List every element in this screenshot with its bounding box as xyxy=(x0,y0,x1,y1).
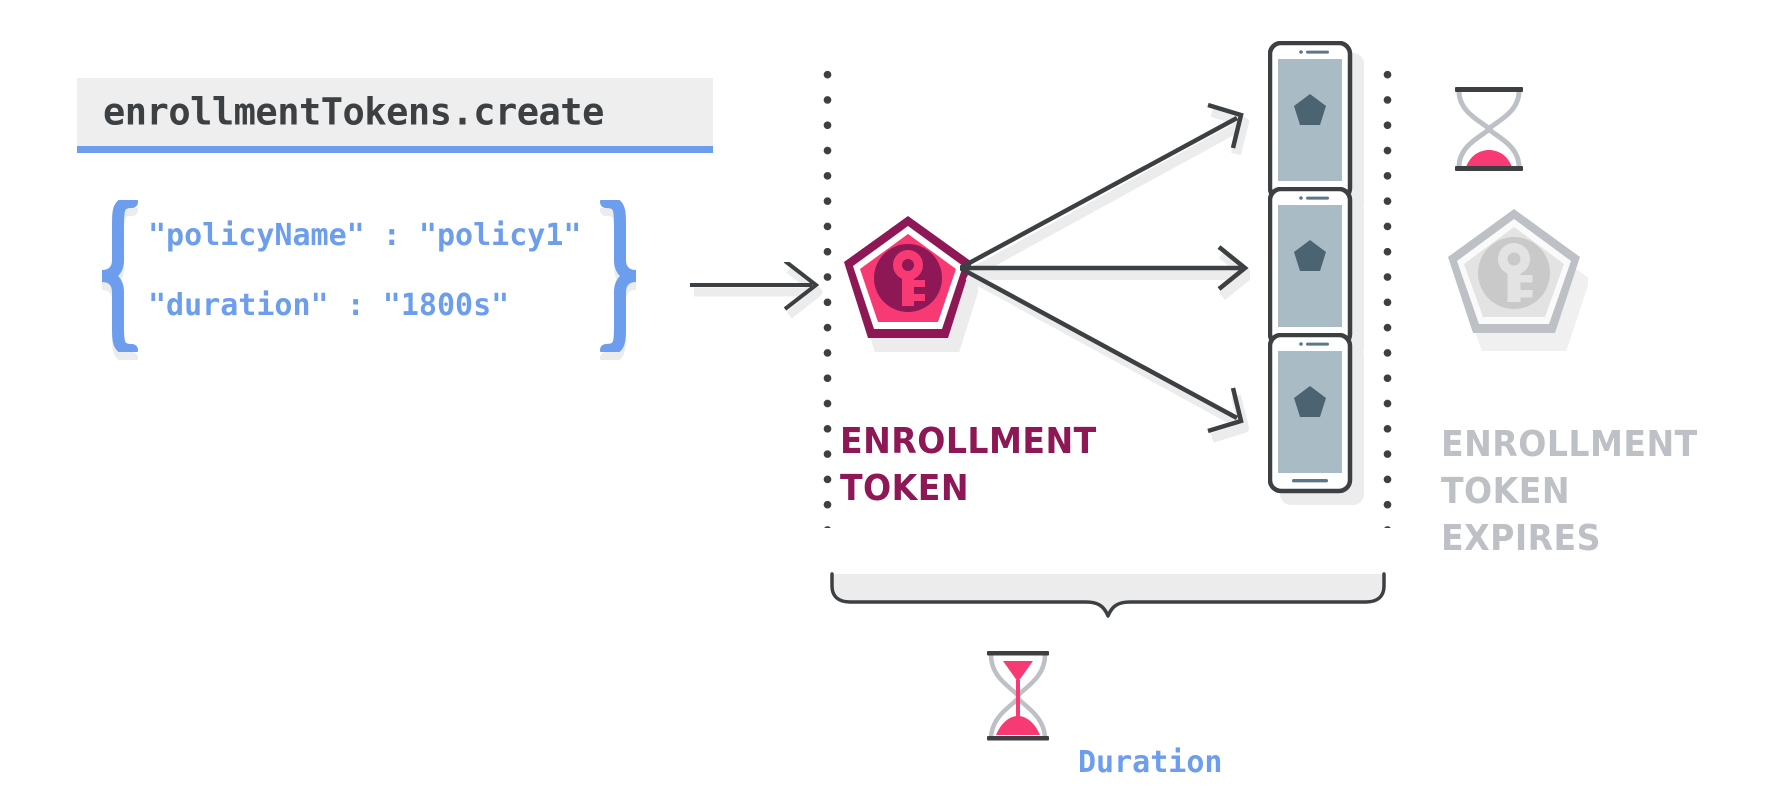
boundary-dotted-line-left xyxy=(823,62,832,528)
arrow-down-right-icon xyxy=(960,268,1237,418)
device-phone-3 xyxy=(1268,333,1364,505)
api-method-underline xyxy=(77,146,713,153)
hourglass-icon xyxy=(1447,82,1531,176)
expires-label-line-3: EXPIRES xyxy=(1441,515,1735,562)
api-method-label: enrollmentTokens.create xyxy=(103,91,604,134)
enrollment-token-expires-label: ENROLLMENT TOKEN EXPIRES xyxy=(1441,421,1735,562)
fanout-arrows-group xyxy=(960,90,1250,490)
diagram-canvas: enrollmentTokens.create "policyName" : "… xyxy=(0,0,1789,795)
duration-caption: Duration 1800 seconds xyxy=(1078,658,1295,795)
expires-label-line-2: TOKEN xyxy=(1441,468,1735,515)
left-curly-brace-icon xyxy=(96,200,140,352)
key-pentagon-icon xyxy=(838,212,978,352)
arrow-right-icon xyxy=(690,262,840,322)
api-method-header: enrollmentTokens.create xyxy=(77,78,713,146)
hourglass-flowing-icon xyxy=(982,645,1054,749)
key-pentagon-expired-icon xyxy=(1440,203,1588,351)
request-payload-block: "policyName" : "policy1" "duration" : "1… xyxy=(88,200,668,360)
payload-line-policyname: "policyName" : "policy1" xyxy=(148,218,581,253)
payload-line-duration: "duration" : "1800s" xyxy=(148,288,509,323)
arrow-up-right-icon xyxy=(960,118,1237,268)
curly-brace-down-icon xyxy=(828,572,1388,620)
expires-label-line-1: ENROLLMENT xyxy=(1441,421,1735,468)
duration-caption-line-1: Duration xyxy=(1078,742,1295,784)
boundary-dotted-line-right xyxy=(1383,62,1392,528)
right-curly-brace-icon xyxy=(598,200,642,352)
